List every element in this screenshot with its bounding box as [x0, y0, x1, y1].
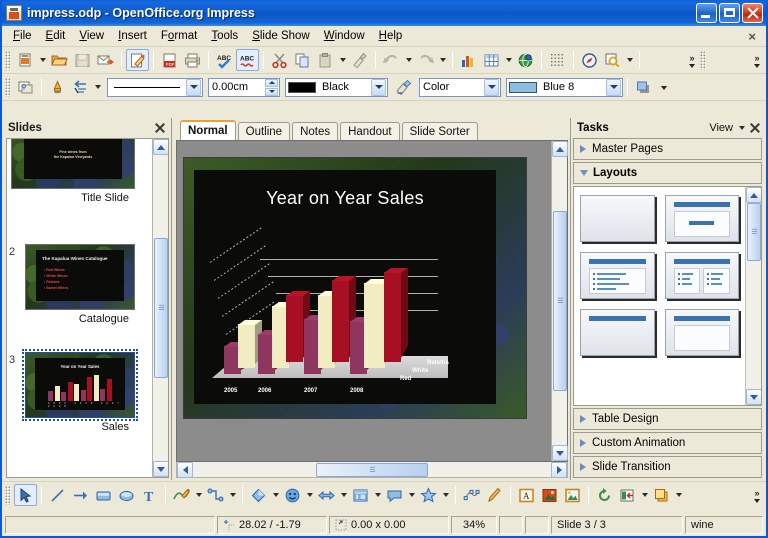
chevron-down-icon[interactable]	[484, 79, 499, 96]
chevron-down-icon[interactable]	[606, 79, 621, 96]
callouts-dropdown[interactable]	[406, 484, 417, 506]
window-title: impress.odp - OpenOffice.org Impress	[27, 6, 696, 20]
drawing-toolbar: T	[2, 481, 766, 508]
series-label-white: White	[412, 368, 428, 374]
status-signature	[525, 516, 549, 534]
line-and-fill-toolbar: 0.00cm Black Color Blue 8	[2, 74, 766, 101]
zoom-icon[interactable]	[601, 49, 624, 71]
svg-text:ABC: ABC	[240, 55, 254, 62]
slide-label-3: Sales	[11, 421, 135, 433]
chevron-down-icon[interactable]	[371, 79, 386, 96]
open-document-icon[interactable]	[48, 49, 71, 71]
block-arrows-icon[interactable]	[315, 484, 338, 506]
menu-slide-show[interactable]: Slide Show	[245, 28, 317, 44]
layouts-scrollbar[interactable]: ☰	[745, 187, 761, 405]
tasks-panel-title: Tasks	[577, 122, 709, 134]
size-icon	[335, 519, 347, 531]
connector-icon[interactable]	[204, 484, 227, 506]
save-document-icon[interactable]	[71, 49, 94, 71]
position-value: 28.02 / -1.79	[239, 519, 301, 531]
scroll-down-icon[interactable]	[552, 445, 568, 461]
standard-toolbar-overflow[interactable]: »	[685, 48, 699, 72]
new-document-dropdown[interactable]	[37, 49, 48, 71]
close-icon[interactable]	[153, 121, 167, 135]
layout-title-only[interactable]	[580, 309, 655, 356]
symbol-shapes-dropdown[interactable]	[304, 484, 315, 506]
gallery-icon[interactable]	[561, 484, 584, 506]
toolbar-separator	[208, 51, 209, 69]
section-label: Custom Animation	[592, 437, 685, 449]
slide-title-text[interactable]: Year on Year Sales	[194, 188, 496, 209]
toolbar-separator	[627, 78, 628, 96]
tasks-view-label[interactable]: View	[709, 122, 733, 134]
scroll-down-icon[interactable]	[746, 389, 762, 405]
line-style-preview	[108, 79, 186, 96]
block-arrows-dropdown[interactable]	[338, 484, 349, 506]
status-size: 0.00 x 0.00	[329, 516, 449, 534]
slide-editing-surface[interactable]: Year on Year Sales	[183, 157, 527, 419]
arrange-dropdown[interactable]	[673, 484, 684, 506]
fontwork-icon[interactable]: A	[515, 484, 538, 506]
paste-dropdown[interactable]	[337, 49, 348, 71]
toolbar-separator	[165, 486, 166, 504]
status-message	[5, 516, 215, 534]
glue-points-icon[interactable]	[483, 484, 506, 506]
zoom-dropdown[interactable]	[624, 49, 635, 71]
slide1-text-line2: the Kapalua Vineyards	[12, 155, 134, 160]
text-icon[interactable]: T	[138, 484, 161, 506]
toolbar-grip[interactable]	[5, 78, 11, 97]
section-table-design[interactable]: Table Design	[573, 408, 762, 430]
line-color-combo[interactable]: Black	[285, 78, 388, 97]
symbol-shapes-icon[interactable]	[281, 484, 304, 506]
slide-background: Year on Year Sales	[194, 170, 496, 404]
flowchart-icon[interactable]	[349, 484, 372, 506]
toolbar-grip[interactable]	[700, 51, 706, 70]
toolbar-separator	[41, 78, 42, 96]
section-label: Slide Transition	[592, 461, 671, 473]
scroll-thumb[interactable]: ☰	[316, 463, 428, 477]
line-icon[interactable]	[46, 484, 69, 506]
extra-toolbar-overflow[interactable]: »	[750, 48, 764, 72]
list-item[interactable]: Fine wines from the Kapalua Vineyards Ti…	[11, 138, 135, 204]
toolbar-separator	[541, 51, 542, 69]
slide-thumbnail-1[interactable]: Fine wines from the Kapalua Vineyards	[11, 138, 135, 189]
scroll-track[interactable]	[153, 378, 168, 461]
undo-dropdown[interactable]	[403, 49, 414, 71]
alignment-icon[interactable]	[616, 484, 639, 506]
section-label: Master Pages	[592, 143, 663, 155]
fill-color-swatch	[509, 82, 537, 93]
menu-file[interactable]: FFileile	[6, 28, 39, 44]
status-master-name: wine	[685, 516, 763, 534]
paste-icon[interactable]	[314, 49, 337, 71]
tasks-sections: Master Pages Layouts	[573, 138, 762, 478]
tab-handout[interactable]: Handout	[340, 122, 399, 140]
arrow-icon[interactable]	[69, 484, 92, 506]
position-icon	[223, 519, 235, 531]
bar-2005-white	[238, 324, 255, 368]
print-document-icon[interactable]	[181, 49, 204, 71]
toolbar-separator	[452, 51, 453, 69]
bar-2008-retsina	[384, 272, 401, 362]
chevron-right-icon	[580, 439, 586, 447]
status-bar: 28.02 / -1.79 0.00 x 0.00 34% Slide 3 / …	[2, 513, 766, 536]
toolbar-separator	[153, 51, 154, 69]
slide-canvas-area: Year on Year Sales	[176, 140, 568, 462]
slide-thumbnail-3[interactable]: Year on Year Sales	[25, 352, 135, 418]
connector-dropdown[interactable]	[227, 484, 238, 506]
fill-type-value: Color	[420, 81, 484, 93]
layout-title-content-box[interactable]	[665, 309, 740, 356]
slide-label-2: Catalogue	[11, 313, 135, 325]
layouts-list[interactable]: ☰	[573, 186, 762, 406]
scroll-down-icon[interactable]	[153, 461, 169, 477]
slide-properties-icon[interactable]	[14, 76, 37, 98]
section-layouts[interactable]: Layouts	[573, 162, 762, 184]
year-on-year-sales-chart[interactable]: 2005 2006 2007 2008 Red White Retsina	[208, 226, 488, 394]
x-tick-2006: 2006	[258, 388, 271, 394]
slides-panel-title: Slides	[8, 122, 153, 134]
status-slide-info: Slide 3 / 3	[551, 516, 683, 534]
redo-dropdown[interactable]	[437, 49, 448, 71]
slides-panel-header: Slides	[2, 118, 171, 138]
scroll-track[interactable]	[153, 155, 168, 238]
close-button[interactable]	[742, 3, 763, 23]
scroll-up-icon[interactable]	[552, 141, 568, 157]
menu-window[interactable]: Window	[317, 28, 372, 44]
email-document-icon[interactable]	[94, 49, 117, 71]
layout-title-bullets[interactable]	[580, 252, 655, 299]
tab-normal[interactable]: Normal	[180, 120, 236, 140]
slide-number-2: 2	[9, 246, 15, 258]
bar-2006-retsina	[286, 295, 303, 362]
curve-dropdown[interactable]	[193, 484, 204, 506]
scroll-track[interactable]	[552, 157, 567, 211]
table-dropdown[interactable]	[503, 49, 514, 71]
callouts-icon[interactable]	[383, 484, 406, 506]
scroll-thumb[interactable]: ☰	[553, 211, 567, 391]
rectangle-icon[interactable]	[92, 484, 115, 506]
close-document-icon[interactable]: ×	[742, 29, 762, 44]
fill-type-combo[interactable]: Color	[419, 78, 501, 97]
toolbar-separator	[588, 486, 589, 504]
tab-outline[interactable]: Outline	[238, 122, 290, 140]
tab-slide-sorter[interactable]: Slide Sorter	[402, 122, 478, 140]
scroll-track[interactable]	[552, 391, 567, 445]
navigator-icon[interactable]	[578, 49, 601, 71]
scroll-up-icon[interactable]	[153, 139, 169, 155]
line-style-combo[interactable]	[107, 78, 203, 97]
line-fill-toolbar-overflow[interactable]	[657, 75, 671, 99]
line-width-field[interactable]: 0.00cm	[208, 78, 280, 97]
toolbar-separator	[375, 51, 376, 69]
menu-tools[interactable]: Tools	[204, 28, 245, 44]
chevron-right-icon	[580, 463, 586, 471]
slide-thumbnail-2[interactable]: The Kapalua Wines Catalogue • Red Wines …	[25, 244, 135, 310]
slide-label-1: Title Slide	[11, 192, 135, 204]
slides-list[interactable]: Fine wines from the Kapalua Vineyards Ti…	[6, 138, 169, 478]
stars-dropdown[interactable]	[440, 484, 451, 506]
series-label-retsina: Retsina	[427, 360, 449, 366]
select-icon[interactable]	[14, 484, 37, 506]
menu-edit[interactable]: Edit	[39, 28, 73, 44]
chevron-right-icon	[580, 415, 586, 423]
status-zoom[interactable]: 34%	[451, 516, 497, 534]
section-custom-animation[interactable]: Custom Animation	[573, 432, 762, 454]
standard-toolbar: PDF ABC ABC	[2, 47, 766, 74]
points-icon[interactable]	[460, 484, 483, 506]
chart-icon[interactable]	[457, 49, 480, 71]
fill-color-value: Blue 8	[540, 81, 606, 93]
svg-text:T: T	[144, 490, 154, 504]
x-tick-2005: 2005	[224, 388, 237, 394]
display-grid-icon[interactable]	[546, 49, 569, 71]
window-buttons	[696, 3, 763, 23]
impress-window: impress.odp - OpenOffice.org Impress FFi…	[0, 0, 768, 538]
stars-icon[interactable]	[417, 484, 440, 506]
scroll-up-icon[interactable]	[746, 187, 762, 203]
chevron-down-icon	[580, 170, 588, 176]
view-tabs: Normal Outline Notes Handout Slide Sorte…	[172, 118, 570, 140]
shadow-icon[interactable]	[632, 76, 655, 98]
slide-canvas[interactable]: Year on Year Sales	[177, 141, 551, 461]
canvas-vertical-scrollbar[interactable]: ☰	[551, 141, 567, 461]
arrow-style-dropdown[interactable]	[92, 76, 103, 98]
line-style-arrow-icon[interactable]	[46, 76, 69, 98]
size-value: 0.00 x 0.00	[351, 519, 405, 531]
ellipse-icon[interactable]	[115, 484, 138, 506]
rotate-icon[interactable]	[593, 484, 616, 506]
scroll-track[interactable]	[746, 261, 761, 389]
menu-format[interactable]: Format	[154, 28, 204, 44]
line-width-stepper[interactable]	[265, 79, 278, 96]
redo-icon[interactable]	[414, 49, 437, 71]
tasks-panel: Tasks View Master Pages Layouts	[570, 118, 766, 480]
scroll-right-icon[interactable]	[551, 462, 567, 478]
main-body: Slides Fine wines from the Kapalua Viney…	[2, 118, 766, 480]
menu-bar: FFileile Edit View Insert Format Tools S…	[2, 26, 766, 47]
svg-text:A: A	[523, 491, 530, 501]
chevron-down-icon[interactable]	[736, 117, 748, 139]
curve-icon[interactable]	[170, 484, 193, 506]
new-document-icon[interactable]	[14, 49, 37, 71]
bar-2008-white	[364, 283, 385, 368]
cut-icon[interactable]	[268, 49, 291, 71]
toolbar-separator	[510, 486, 511, 504]
toolbar-separator	[242, 486, 243, 504]
table-icon[interactable]	[480, 49, 503, 71]
layout-blank[interactable]	[580, 195, 655, 242]
title-bar: impress.odp - OpenOffice.org Impress	[2, 0, 766, 26]
toolbar-grip[interactable]	[5, 486, 11, 505]
clone-formatting-icon[interactable]	[348, 49, 371, 71]
flowchart-dropdown[interactable]	[372, 484, 383, 506]
maximize-button[interactable]	[719, 3, 740, 23]
undo-icon[interactable]	[380, 49, 403, 71]
status-modified	[499, 516, 523, 534]
layout-title-content[interactable]	[665, 195, 740, 242]
section-label: Table Design	[592, 413, 658, 425]
section-slide-transition[interactable]: Slide Transition	[573, 456, 762, 478]
close-icon[interactable]	[748, 121, 762, 135]
area-style-icon[interactable]	[392, 76, 415, 98]
list-item[interactable]: 3 Year on Year Sales	[11, 352, 135, 433]
toolbar-separator	[263, 51, 264, 69]
slide2-title: The Kapalua Wines Catalogue	[42, 256, 108, 261]
line-color-value: Black	[319, 81, 371, 93]
copy-icon[interactable]	[291, 49, 314, 71]
tasks-panel-header: Tasks View	[571, 118, 766, 138]
scroll-thumb[interactable]: ☰	[747, 203, 761, 261]
scroll-left-icon[interactable]	[177, 462, 193, 478]
layout-title-two-content[interactable]	[665, 252, 740, 299]
toolbar-separator	[121, 51, 122, 69]
section-master-pages[interactable]: Master Pages	[573, 138, 762, 160]
status-position: 28.02 / -1.79	[217, 516, 327, 534]
toolbar-separator	[573, 51, 574, 69]
list-item[interactable]: 2 The Kapalua Wines Catalogue • Red Wine…	[11, 244, 135, 325]
line-color-swatch	[288, 82, 316, 93]
fill-color-combo[interactable]: Blue 8	[506, 78, 623, 97]
basic-shapes-icon[interactable]	[247, 484, 270, 506]
minimize-button[interactable]	[696, 3, 717, 23]
scroll-thumb[interactable]: ☰	[154, 238, 168, 378]
workspace: Normal Outline Notes Handout Slide Sorte…	[172, 118, 570, 480]
spelling-check-icon[interactable]: ABC	[213, 49, 236, 71]
menu-insert[interactable]: Insert	[111, 28, 154, 44]
slides-thumbnails: Fine wines from the Kapalua Vineyards Ti…	[7, 139, 152, 477]
section-label: Layouts	[593, 167, 637, 179]
alignment-dropdown[interactable]	[639, 484, 650, 506]
tab-notes[interactable]: Notes	[292, 122, 338, 140]
from-file-icon[interactable]	[538, 484, 561, 506]
chevron-right-icon	[580, 145, 586, 153]
arrange-icon[interactable]	[650, 484, 673, 506]
line-width-value: 0.00cm	[209, 81, 265, 93]
slides-panel: Slides Fine wines from the Kapalua Viney…	[2, 118, 172, 480]
basic-shapes-dropdown[interactable]	[270, 484, 281, 506]
export-pdf-icon[interactable]: PDF	[158, 49, 181, 71]
autospellcheck-icon[interactable]: ABC	[236, 49, 259, 71]
series-label-red: Red	[400, 376, 411, 382]
toolbar-grip[interactable]	[5, 51, 11, 70]
x-tick-2007: 2007	[304, 388, 317, 394]
toolbar-separator	[41, 486, 42, 504]
svg-text:PDF: PDF	[166, 61, 175, 66]
edit-file-icon[interactable]	[126, 49, 149, 71]
canvas-horizontal-scrollbar[interactable]: ☰	[176, 462, 568, 478]
toolbar-separator	[639, 51, 640, 69]
slide3-title: Year on Year Sales	[26, 364, 134, 369]
arrow-style-icon[interactable]	[69, 76, 92, 98]
x-tick-2008: 2008	[350, 388, 363, 394]
chevron-down-icon[interactable]	[186, 79, 201, 96]
slides-scrollbar[interactable]: ☰	[152, 139, 168, 477]
toolbar-separator	[455, 486, 456, 504]
impress-document-icon	[6, 5, 22, 21]
bar-2007-retsina	[332, 280, 349, 362]
hyperlink-icon[interactable]	[514, 49, 537, 71]
drawing-toolbar-overflow[interactable]: »	[750, 483, 764, 507]
slide-number-3: 3	[9, 354, 15, 366]
slide2-bullet-4: • Sweet Wines	[44, 285, 68, 291]
menu-view[interactable]: View	[72, 28, 111, 44]
layouts-grid	[574, 187, 745, 405]
menu-help[interactable]: Help	[372, 28, 410, 44]
